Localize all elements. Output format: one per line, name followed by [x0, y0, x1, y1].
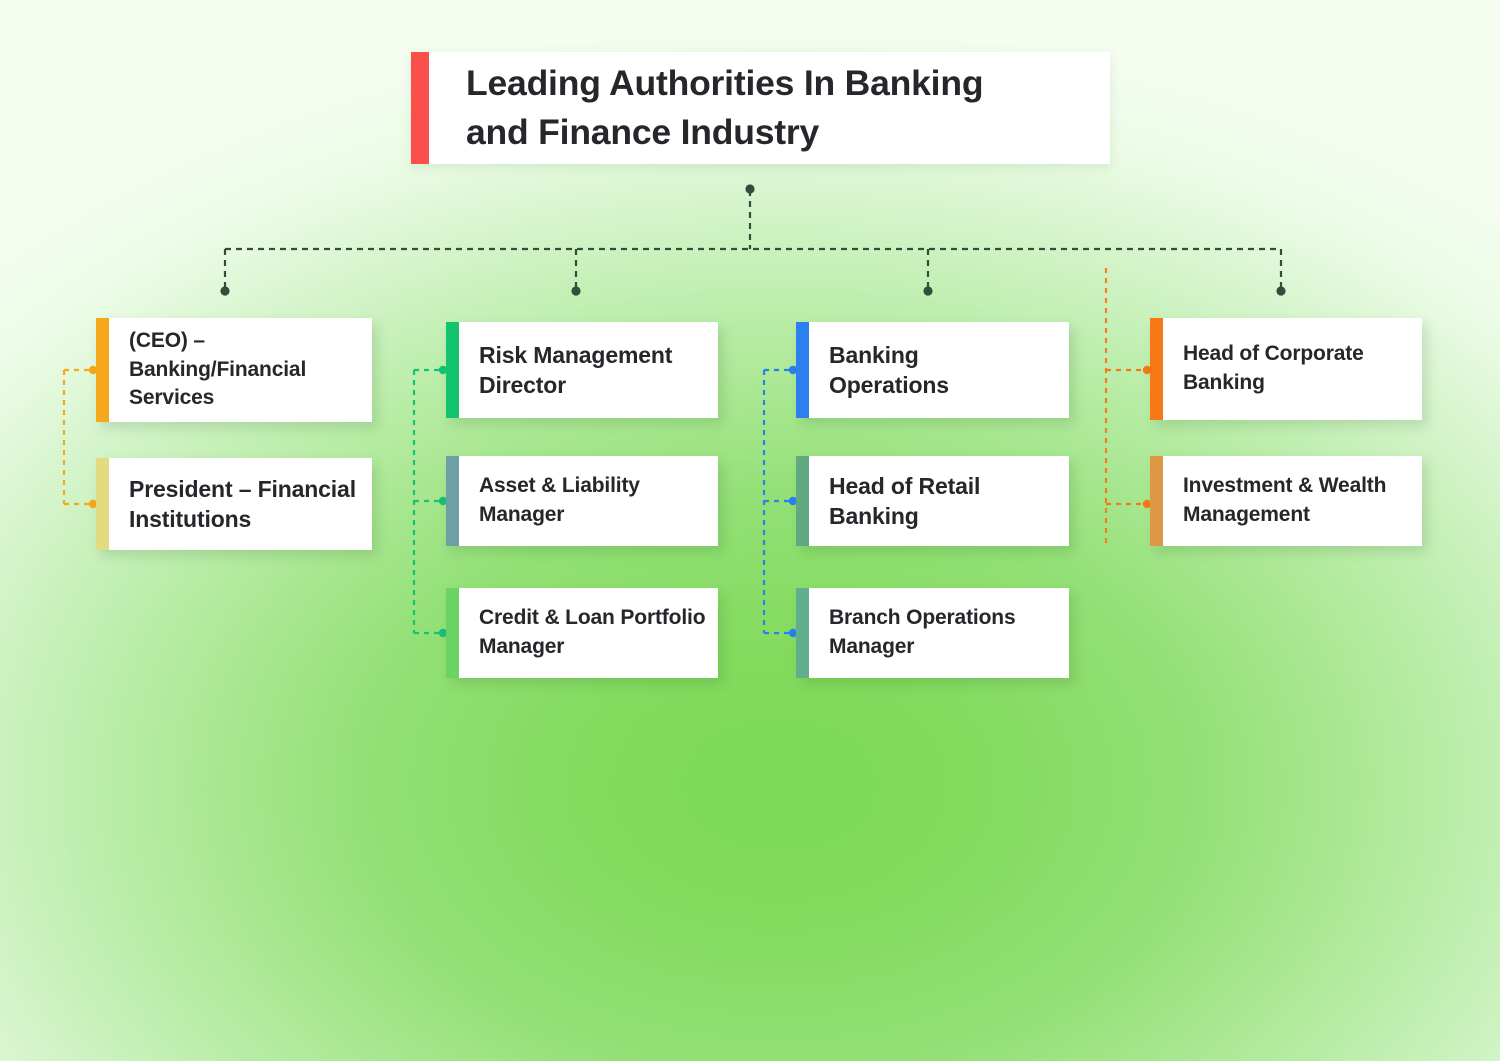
node-card[interactable]: Investment & Wealth Management: [1150, 456, 1422, 546]
card-accent-bar: [446, 322, 459, 418]
trunk-connector-group: [220, 184, 1285, 295]
chart-title-card: Leading Authorities In Banking and Finan…: [411, 52, 1110, 164]
card-accent-bar: [1150, 318, 1163, 420]
node-label: Banking Operations: [809, 322, 1069, 418]
node-label: President – Financial Institutions: [109, 458, 372, 550]
node-card[interactable]: Head of Corporate Banking: [1150, 318, 1422, 420]
node-label: Credit & Loan Portfolio Manager: [459, 588, 718, 678]
branch-connector-3: [764, 366, 797, 637]
node-label: Risk Management Director: [459, 322, 718, 418]
node-label: Branch Operations Manager: [809, 588, 1069, 678]
node-label: Investment & Wealth Management: [1163, 456, 1422, 546]
card-accent-bar: [796, 456, 809, 546]
node-label: Head of Retail Banking: [809, 456, 1069, 546]
card-accent-bar: [1150, 456, 1163, 546]
branch-connector-2: [414, 366, 447, 637]
org-chart-canvas: Leading Authorities In Banking and Finan…: [0, 0, 1500, 1061]
node-label: Head of Corporate Banking: [1163, 318, 1422, 420]
node-card[interactable]: (CEO) – Banking/Financial Services: [96, 318, 372, 422]
card-accent-bar: [796, 322, 809, 418]
branch-connector-1: [64, 366, 97, 508]
node-label: Asset & Liability Manager: [459, 456, 718, 546]
node-card[interactable]: Banking Operations: [796, 322, 1069, 418]
node-label: (CEO) – Banking/Financial Services: [109, 318, 372, 422]
node-card[interactable]: Credit & Loan Portfolio Manager: [446, 588, 718, 678]
node-card[interactable]: Asset & Liability Manager: [446, 456, 718, 546]
branch-connector-4: [1106, 268, 1151, 545]
card-accent-bar: [446, 588, 459, 678]
page-title: Leading Authorities In Banking and Finan…: [429, 59, 1110, 157]
card-accent-bar: [796, 588, 809, 678]
node-card[interactable]: Head of Retail Banking: [796, 456, 1069, 546]
title-accent-bar: [411, 52, 429, 164]
node-card[interactable]: Risk Management Director: [446, 322, 718, 418]
card-accent-bar: [96, 318, 109, 422]
card-accent-bar: [96, 458, 109, 550]
node-card[interactable]: President – Financial Institutions: [96, 458, 372, 550]
node-card[interactable]: Branch Operations Manager: [796, 588, 1069, 678]
card-accent-bar: [446, 456, 459, 546]
